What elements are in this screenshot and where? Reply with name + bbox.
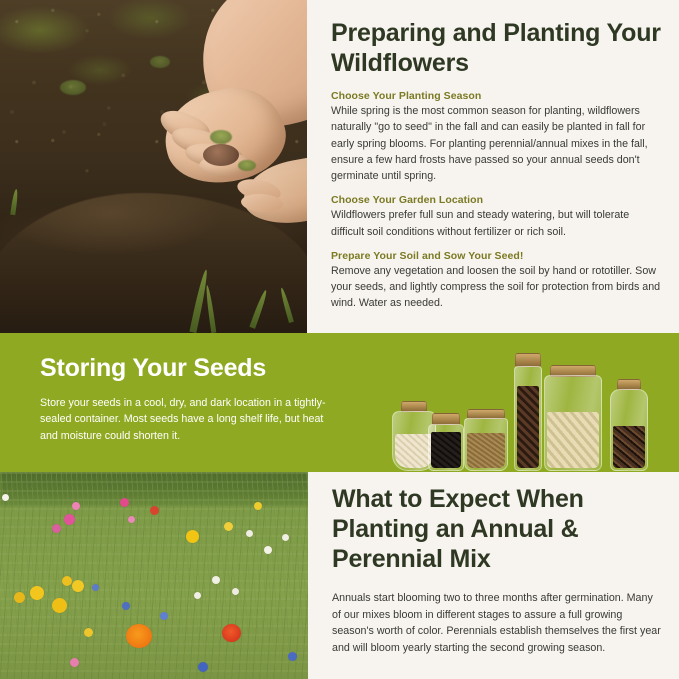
flower-pink — [70, 658, 79, 667]
seedling-sprout — [210, 130, 232, 144]
section-what-to-expect: What to Expect When Planting an Annual &… — [0, 472, 679, 679]
glass-jar — [610, 389, 648, 471]
subheading-planting-season: Choose Your Planting Season — [331, 90, 661, 102]
subheading-garden-location: Choose Your Garden Location — [331, 194, 661, 206]
flower-magenta — [120, 498, 129, 507]
flower-white — [232, 588, 239, 595]
subheading-prepare-soil: Prepare Your Soil and Sow Your Seed! — [331, 250, 661, 262]
jar-brown-grain — [464, 409, 508, 471]
seed-fill — [431, 432, 461, 468]
flower-white — [212, 576, 220, 584]
seedling-sprout — [238, 160, 256, 171]
flower-white — [264, 546, 272, 554]
flower-yellow — [62, 576, 72, 586]
jar-tall-dark — [514, 353, 542, 471]
seed-jars-photo — [392, 343, 672, 471]
flower-red-poppy — [222, 624, 241, 642]
infographic-page: Preparing and Planting Your Wildflowers … — [0, 0, 679, 679]
flower-white — [2, 494, 9, 501]
glass-jar — [428, 424, 464, 471]
flower-blue — [288, 652, 297, 661]
seedling-sprout — [60, 80, 86, 95]
flower-pink — [64, 514, 75, 525]
flower-yellow — [72, 580, 84, 592]
storing-text-panel: Storing Your Seeds Store your seeds in a… — [40, 355, 340, 444]
flower-blue — [122, 602, 130, 610]
flower-orange-poppy — [126, 624, 152, 648]
flower-yellow — [84, 628, 93, 637]
flower-yellow — [224, 522, 233, 531]
flower-yellow — [30, 586, 44, 600]
paragraph-prepare-soil: Remove any vegetation and loosen the soi… — [331, 263, 661, 312]
glass-jar — [514, 366, 542, 471]
flower-blue — [198, 662, 208, 672]
hand-sowing-seeds-photo — [0, 0, 307, 333]
wildflower-meadow-photo — [0, 472, 308, 679]
section-preparing-and-planting: Preparing and Planting Your Wildflowers … — [0, 0, 679, 333]
glass-jar — [464, 418, 508, 471]
jar-black-seeds — [428, 413, 464, 471]
flower-yellow — [254, 502, 262, 510]
flower-yellow — [186, 530, 199, 543]
preparing-heading: Preparing and Planting Your Wildflowers — [331, 18, 661, 78]
cork-stopper — [515, 353, 541, 367]
storing-heading: Storing Your Seeds — [40, 355, 340, 383]
flower-white — [282, 534, 289, 541]
flower-white — [194, 592, 201, 599]
preparing-text-panel: Preparing and Planting Your Wildflowers … — [307, 0, 679, 333]
flower-white — [246, 530, 253, 537]
expect-text-panel: What to Expect When Planting an Annual &… — [308, 472, 679, 679]
seeds-in-hand — [203, 144, 239, 166]
section-storing-your-seeds: Storing Your Seeds Store your seeds in a… — [0, 333, 679, 472]
flower-pink — [72, 502, 80, 510]
paragraph-planting-season: While spring is the most common season f… — [331, 103, 661, 184]
flower-red — [150, 506, 159, 515]
expect-heading: What to Expect When Planting an Annual &… — [332, 484, 663, 574]
storing-paragraph: Store your seeds in a cool, dry, and dar… — [40, 395, 340, 445]
flower-yellow — [52, 598, 67, 613]
flower-yellow — [14, 592, 25, 603]
seed-fill — [613, 426, 645, 468]
jar-mixed-seeds — [610, 379, 648, 471]
flower-pink — [128, 516, 135, 523]
grass-texture — [0, 472, 308, 679]
flower-pink — [52, 524, 61, 533]
flower-blue — [160, 612, 168, 620]
jar-large-cream — [544, 365, 602, 471]
glass-jar — [544, 375, 602, 471]
flower-blue — [92, 584, 99, 591]
seed-fill — [467, 433, 505, 468]
paragraph-garden-location: Wildflowers prefer full sun and steady w… — [331, 207, 661, 240]
expect-paragraph: Annuals start blooming two to three mont… — [332, 590, 663, 656]
seed-fill — [547, 412, 599, 468]
seed-fill — [517, 386, 539, 468]
